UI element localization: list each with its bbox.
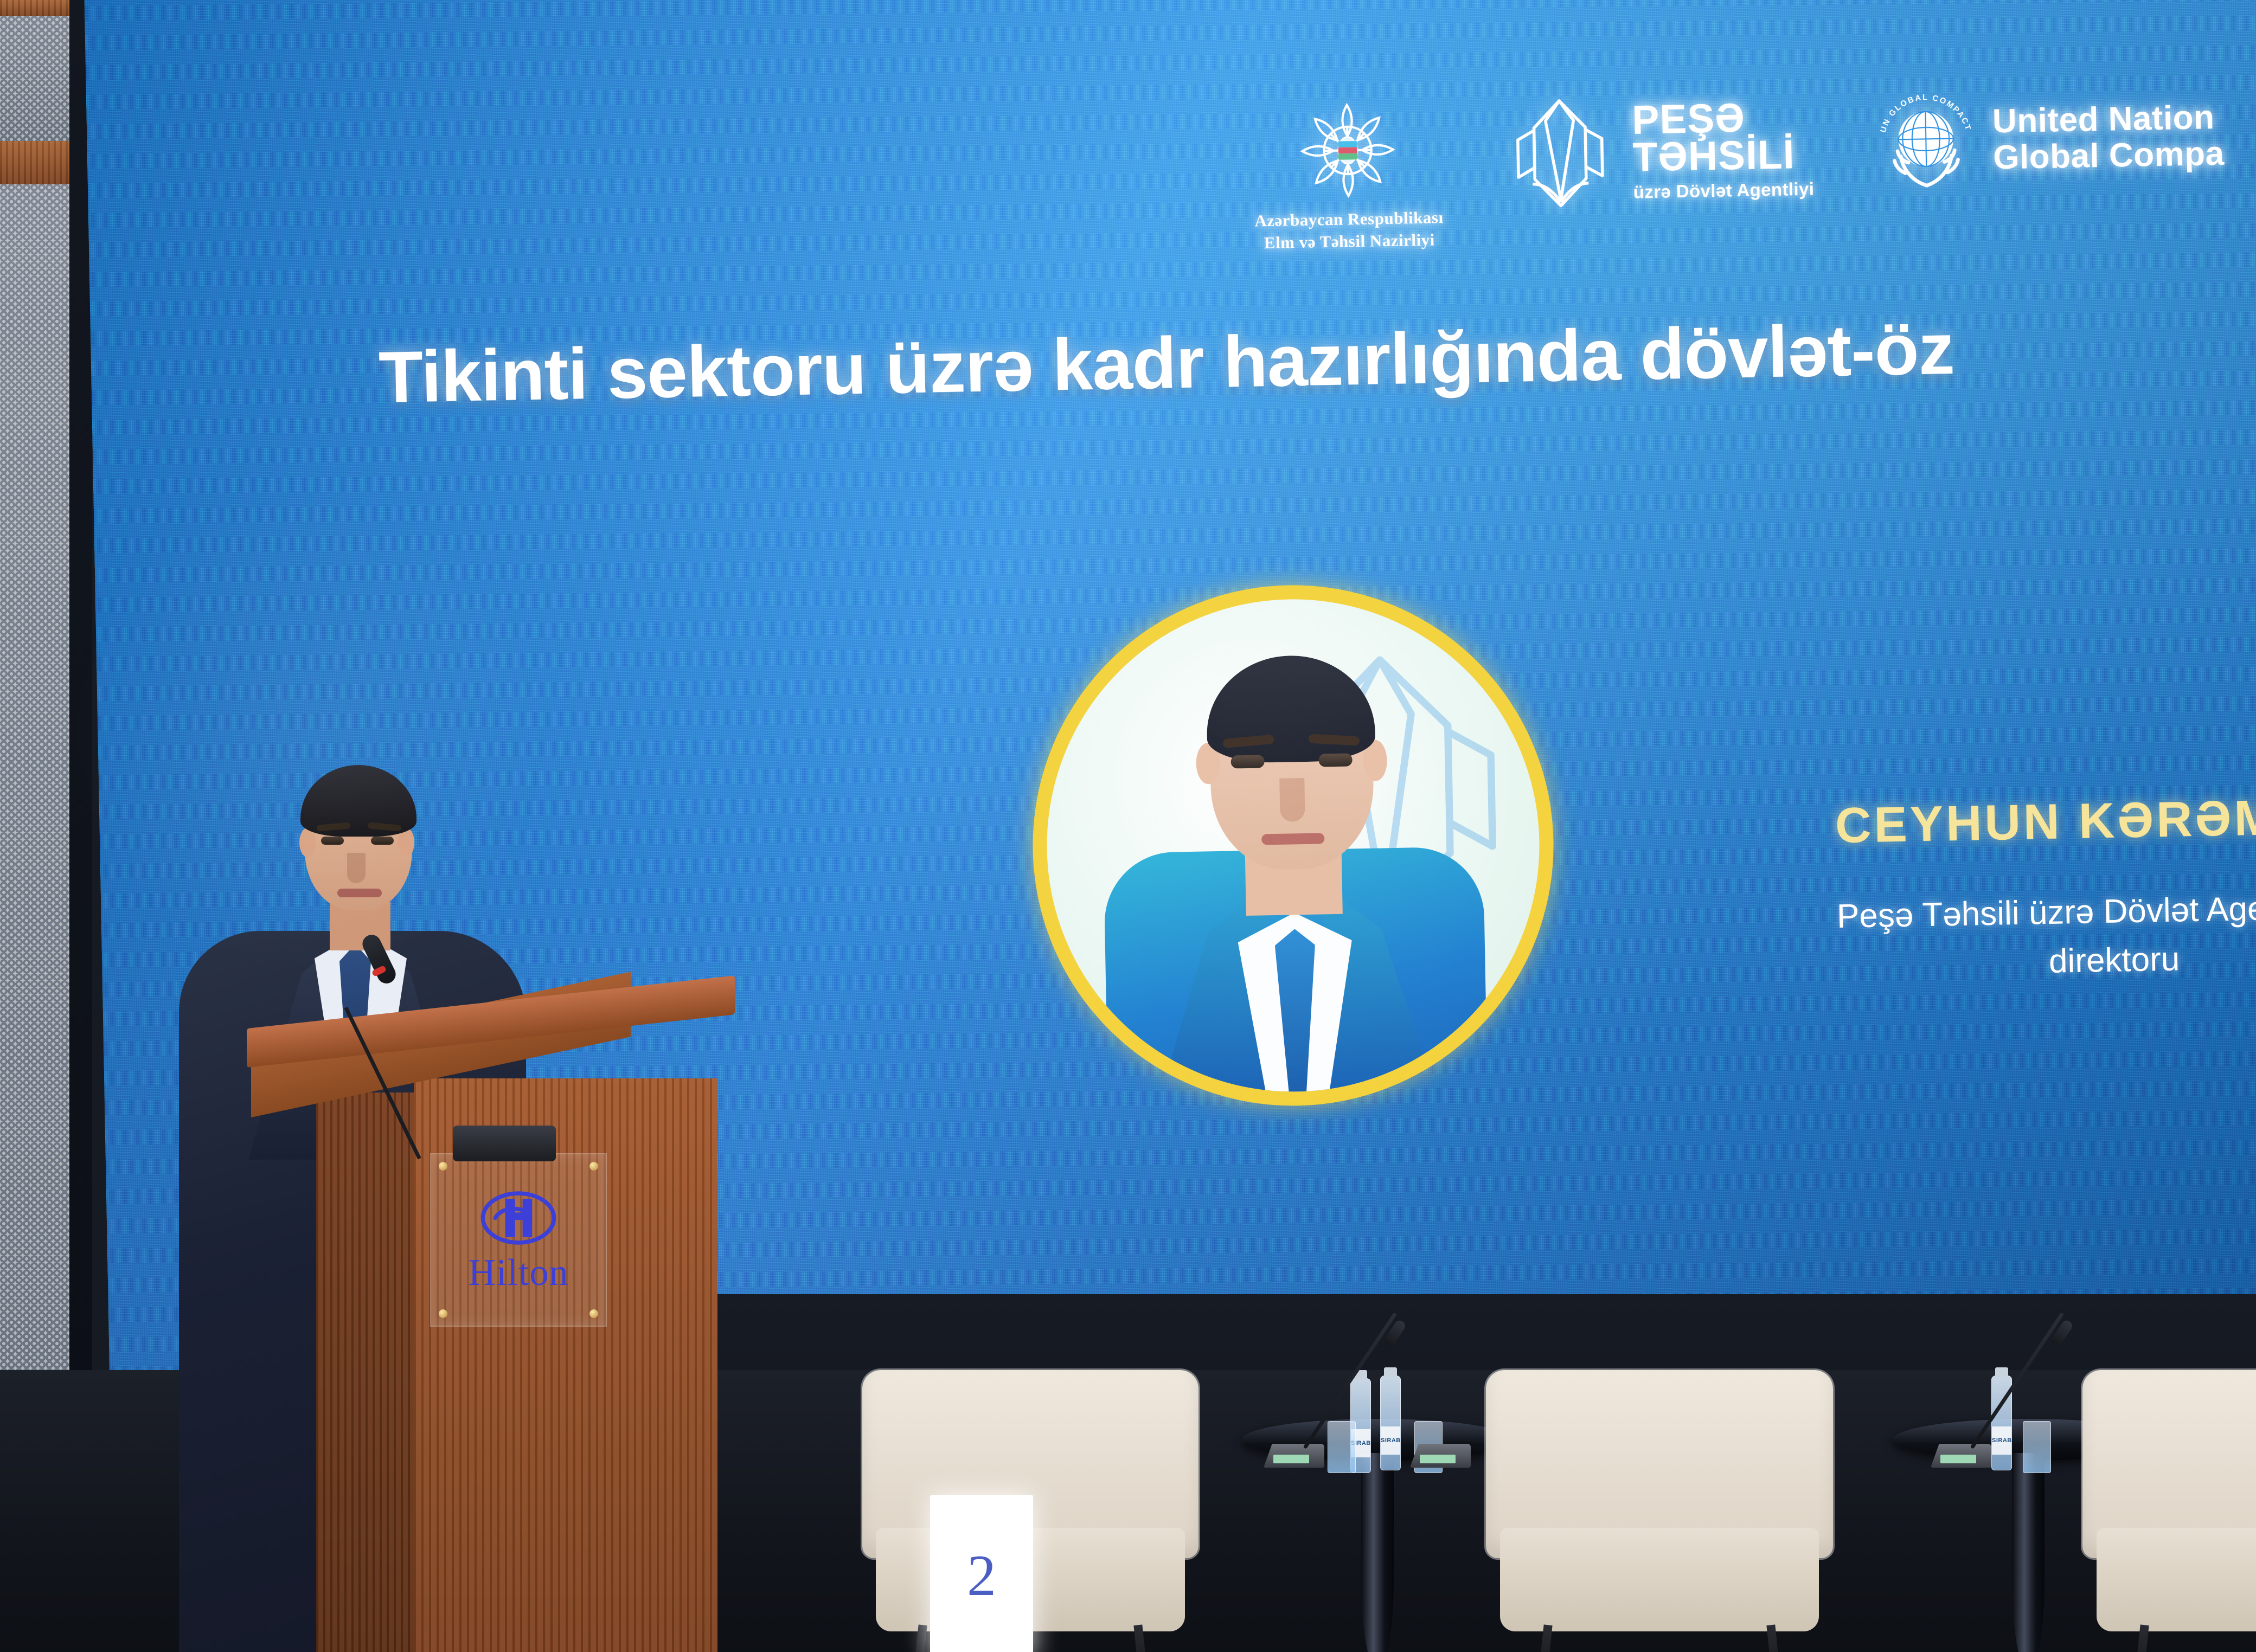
- mic-gooseneck: [1970, 1312, 2065, 1449]
- side-table-stem: [1361, 1453, 1394, 1652]
- logo-vet-agency: PEŞƏ TƏHSİLİ üzrə Dövlət Agentliyi: [1501, 91, 1814, 213]
- portrait-eye-right: [1318, 753, 1352, 767]
- conference-stage-photo: Azərbaycan Respublikası Elm və Təhsil Na…: [0, 0, 2256, 1652]
- stage-armchair-right: [2082, 1370, 2256, 1652]
- table-number-card: 2: [930, 1495, 1033, 1652]
- un-globe-laurel-icon: UN GLOBAL COMPACT: [1872, 87, 1980, 195]
- un-line1: United Nation: [1992, 99, 2223, 140]
- mic-base-display: [1420, 1455, 1456, 1463]
- portrait-mouth: [1261, 833, 1324, 845]
- logo-ministry: Azərbaycan Respublikası Elm və Təhsil Na…: [1252, 97, 1444, 254]
- logo-un-global-compact: UN GLOBAL COMPACT United Nation Global C…: [1872, 83, 2225, 195]
- logo-ministry-caption: Azərbaycan Respublikası Elm və Təhsil Na…: [1254, 207, 1444, 254]
- plaque-screw-br: [589, 1309, 598, 1318]
- mic-base-unit: [1264, 1444, 1324, 1468]
- speaker-nose: [347, 853, 366, 883]
- table-number-value: 2: [967, 1542, 996, 1610]
- logo-vet-agency-text: PEŞƏ TƏHSİLİ üzrə Dövlət Agentliyi: [1632, 98, 1815, 203]
- speaker-role: Peşə Təhsili üzrə Dövlət Agent direktoru: [1836, 882, 2256, 989]
- azerbaijan-ministry-emblem-icon: [1295, 98, 1400, 203]
- plaque-screw-bl: [439, 1309, 447, 1318]
- speaker-mouth: [337, 889, 382, 897]
- speaker-caption-block: CEYHUN KƏRƏMO Peşə Təhsili üzrə Dövlət A…: [1835, 787, 2256, 989]
- logo-row: Azərbaycan Respublikası Elm və Təhsil Na…: [1252, 83, 2226, 255]
- un-line2: Global Compa: [1993, 136, 2225, 176]
- mic-base-unit: [1931, 1444, 1991, 1468]
- stage-armchair-center: [1486, 1370, 1833, 1652]
- vet-line2: TƏHSİLİ: [1632, 136, 1814, 176]
- portrait-eye-left: [1230, 755, 1264, 768]
- portrait-inner: [1042, 595, 1543, 1096]
- mic-base-display: [1273, 1455, 1309, 1463]
- portrait-nose: [1279, 778, 1305, 822]
- vocational-education-book-icon: [1501, 94, 1619, 213]
- hilton-h-icon: [477, 1188, 560, 1251]
- speaker-portrait-circle: [1028, 581, 1558, 1110]
- vet-subtitle: üzrə Dövlət Agentliyi: [1633, 179, 1814, 203]
- speaker-eye-right: [371, 837, 394, 845]
- speaker-role-line2: direktoru: [1837, 931, 2256, 990]
- chair-seat: [1500, 1528, 1819, 1631]
- chair-seat: [2097, 1528, 2256, 1631]
- mic-gooseneck: [1303, 1312, 1398, 1449]
- podium-microphone: [401, 936, 597, 1164]
- speaker-eye-left: [321, 837, 344, 845]
- mic-base-display: [1940, 1455, 1976, 1463]
- hilton-wordmark: Hilton: [469, 1254, 569, 1292]
- side-table-stem: [2012, 1453, 2044, 1652]
- podium-side-panel: [316, 1092, 416, 1652]
- slide-headline: Tikinti sektoru üzrə kadr hazırlığında d…: [378, 307, 1955, 419]
- speaker-role-line1: Peşə Təhsili üzrə Dövlət Agent: [1836, 890, 2256, 935]
- mic-base-unit: [1410, 1444, 1471, 1468]
- hilton-logo-plaque: Hilton: [430, 1153, 607, 1327]
- speaker-name: CEYHUN KƏRƏMO: [1835, 787, 2256, 854]
- logo-un-text: United Nation Global Compa: [1992, 99, 2225, 176]
